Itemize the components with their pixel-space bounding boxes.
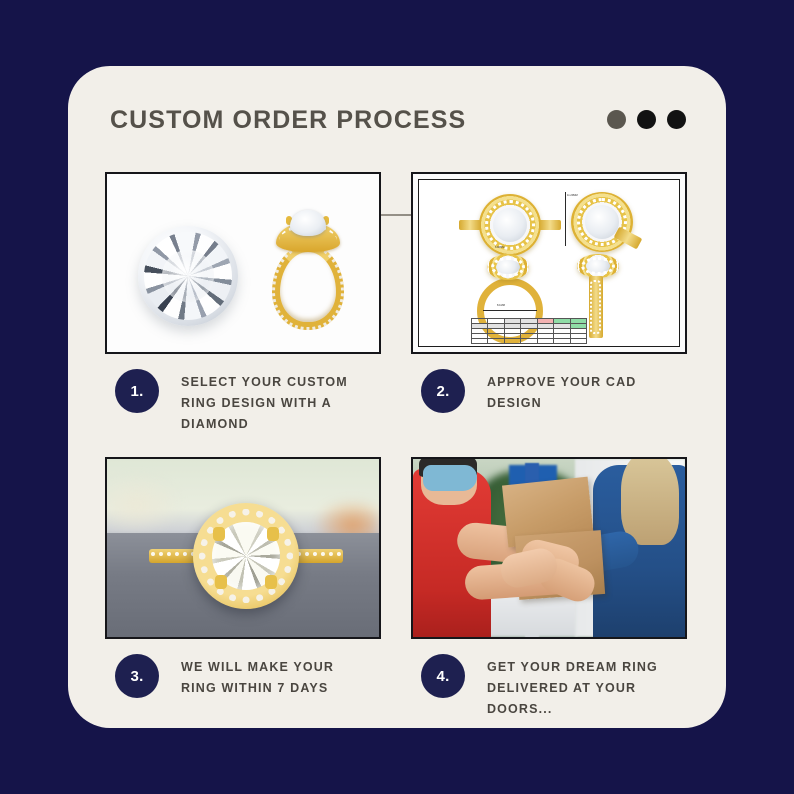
step-4-caption: 4. GET YOUR DREAM RING DELIVERED AT YOUR… [411,654,687,720]
step-3-badge: 3. [115,654,159,698]
step-1-image [105,172,381,354]
step-1-badge: 1. [115,369,159,413]
step-4-badge: 4. [421,654,465,698]
finished-ring-photo-subject [193,503,299,609]
step-3-label: WE WILL MAKE YOUR RING WITHIN 7 DAYS [181,654,373,699]
step-4-image [411,457,687,639]
dot-three-icon [667,110,686,129]
face-mask-icon [423,465,477,491]
step-3-caption: 3. WE WILL MAKE YOUR RING WITHIN 7 DAYS [105,654,381,699]
loose-diamond-illustration [138,226,238,326]
gold-halo-ring-illustration [254,204,360,332]
window-dots [607,110,686,129]
step-1-label: SELECT YOUR CUSTOM RING DESIGN WITH A DI… [181,369,373,435]
step-4-label: GET YOUR DREAM RING DELIVERED AT YOUR DO… [487,654,679,720]
step-item-1: 1. SELECT YOUR CUSTOM RING DESIGN WITH A… [105,172,381,435]
step-2-label: APPROVE YOUR CAD DESIGN [487,369,679,414]
infographic-card: CUSTOM ORDER PROCESS [68,66,726,728]
step-2-caption: 2. APPROVE YOUR CAD DESIGN [411,369,687,414]
photo-background-highlight-left [107,475,181,535]
steps-grid: 1. SELECT YOUR CUSTOM RING DESIGN WITH A… [105,172,695,720]
dot-two-icon [637,110,656,129]
step-2-badge: 2. [421,369,465,413]
step-2-image: 11.20MM 8.1MM 6.00MM [411,172,687,354]
cad-spec-table [471,318,587,344]
step-1-caption: 1. SELECT YOUR CUSTOM RING DESIGN WITH A… [105,369,381,435]
card-header: CUSTOM ORDER PROCESS [110,98,686,178]
step-item-2: 11.20MM 8.1MM 6.00MM [411,172,687,435]
page-title: CUSTOM ORDER PROCESS [110,106,466,135]
step-3-image [105,457,381,639]
dot-one-icon [607,110,626,129]
step-item-3: 3. WE WILL MAKE YOUR RING WITHIN 7 DAYS [105,457,381,720]
cad-sheet-frame: 11.20MM 8.1MM 6.00MM [418,179,680,347]
step-item-4: 4. GET YOUR DREAM RING DELIVERED AT YOUR… [411,457,687,720]
